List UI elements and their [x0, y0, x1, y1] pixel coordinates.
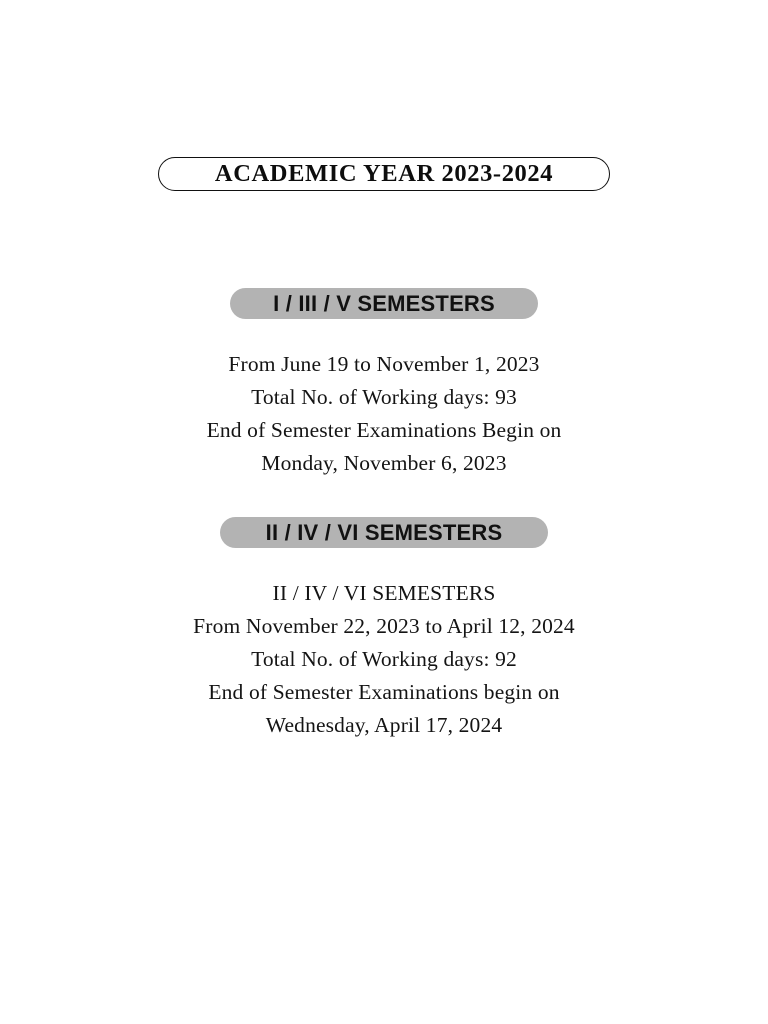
semester-details-odd: From June 19 to November 1, 2023 Total N… — [0, 348, 768, 480]
semester-banner-even-label: II / IV / VI SEMESTERS — [266, 522, 503, 544]
detail-line: Total No. of Working days: 92 — [0, 643, 768, 676]
detail-line: Wednesday, April 17, 2024 — [0, 709, 768, 742]
detail-line: Monday, November 6, 2023 — [0, 447, 768, 480]
semester-details-even: II / IV / VI SEMESTERS From November 22,… — [0, 577, 768, 742]
semester-banner-odd: I / III / V SEMESTERS — [230, 288, 538, 319]
detail-line: II / IV / VI SEMESTERS — [0, 577, 768, 610]
page-title: ACADEMIC YEAR 2023-2024 — [215, 162, 553, 187]
detail-line: End of Semester Examinations begin on — [0, 676, 768, 709]
detail-line: From November 22, 2023 to April 12, 2024 — [0, 610, 768, 643]
detail-line: End of Semester Examinations Begin on — [0, 414, 768, 447]
document-page: ACADEMIC YEAR 2023-2024 I / III / V SEME… — [0, 0, 768, 1024]
detail-line: From June 19 to November 1, 2023 — [0, 348, 768, 381]
semester-banner-odd-label: I / III / V SEMESTERS — [273, 293, 495, 315]
semester-banner-even: II / IV / VI SEMESTERS — [220, 517, 548, 548]
detail-line: Total No. of Working days: 93 — [0, 381, 768, 414]
academic-year-title-box: ACADEMIC YEAR 2023-2024 — [158, 157, 610, 191]
